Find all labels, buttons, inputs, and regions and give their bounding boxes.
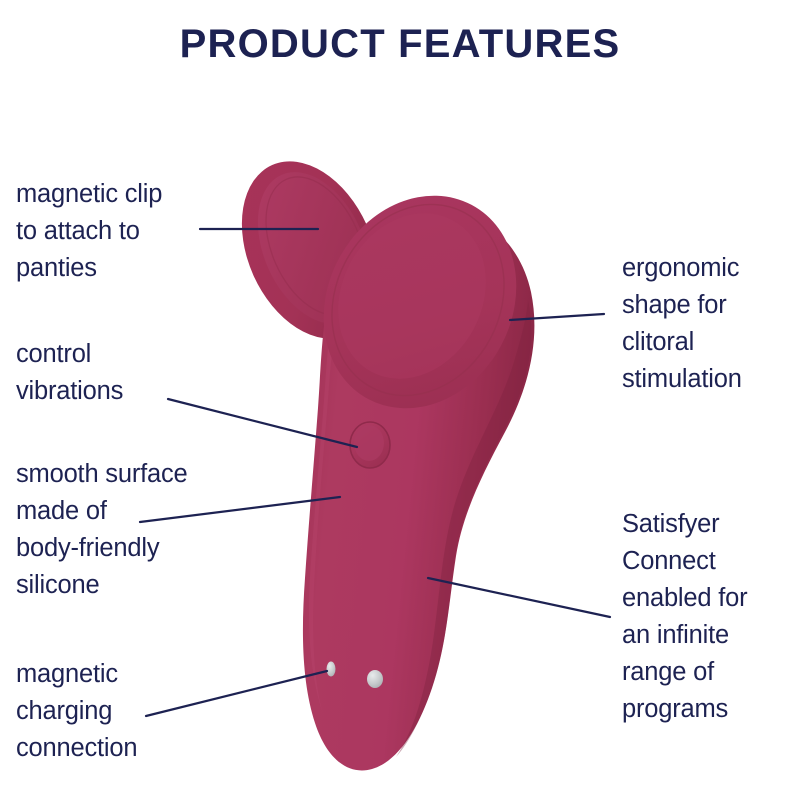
control-button[interactable] (350, 422, 390, 468)
callout-magnetic-charging: magnetic charging connection (16, 656, 256, 767)
callout-control-vibrations: control vibrations (16, 336, 236, 410)
charging-contact (327, 662, 336, 677)
infographic-canvas: PRODUCT FEATURES (0, 0, 800, 800)
callout-smooth-surface: smooth surface made of body-friendly sil… (16, 456, 256, 604)
callout-magnetic-clip: magnetic clip to attach to panties (16, 176, 246, 287)
callout-satisfyer-connect: Satisfyer Connect enabled for an infinit… (622, 506, 800, 728)
charging-contact (367, 670, 383, 688)
callout-ergonomic-shape: ergonomic shape for clitoral stimulation (622, 250, 800, 398)
